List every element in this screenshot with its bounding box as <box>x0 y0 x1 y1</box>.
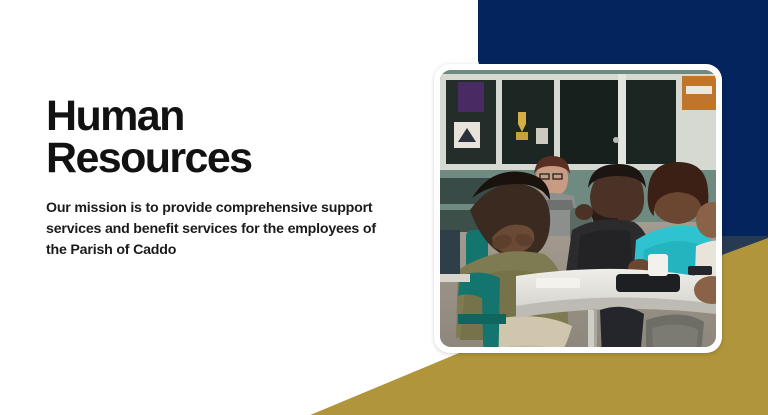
trophy-base <box>516 132 528 140</box>
corkboard-note <box>686 86 712 94</box>
shelf-item-a <box>536 128 548 144</box>
photo-card <box>434 64 722 353</box>
table-background-left <box>440 274 470 282</box>
meeting-room-photo <box>440 70 716 347</box>
text-block: Human Resources Our mission is to provid… <box>46 96 406 261</box>
glass-pane-4 <box>624 80 676 164</box>
white-cup <box>648 254 668 276</box>
glass-pane-3 <box>560 80 618 164</box>
human-resources-banner: Human Resources Our mission is to provid… <box>0 0 768 415</box>
mission-statement: Our mission is to provide comprehensive … <box>46 198 398 261</box>
door-handle <box>613 137 619 143</box>
smartphone <box>688 266 712 275</box>
purple-banner <box>458 82 484 112</box>
page-title: Human Resources <box>46 96 406 179</box>
dark-laptop-case <box>616 274 680 292</box>
table-leg <box>588 310 594 347</box>
glass-pane-2 <box>502 80 554 164</box>
table-leg-shadow <box>594 310 597 347</box>
paper-notebook <box>536 278 580 288</box>
chair-background-left <box>440 230 460 280</box>
